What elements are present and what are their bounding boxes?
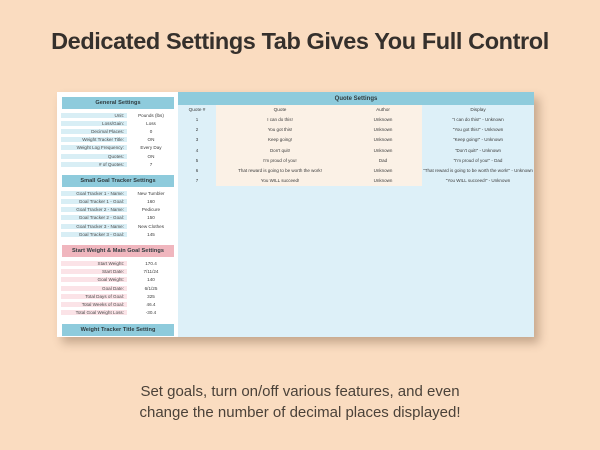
panel-title-general-settings: General Settings (61, 96, 175, 110)
setting-row[interactable]: Goal Tracker 2 - Goal: 150 (61, 214, 175, 222)
setting-row[interactable]: Goal Tracker 1 - Goal: 160 (61, 198, 175, 206)
table-row[interactable]: 6 That reward is going to be worth the w… (178, 165, 534, 175)
setting-value[interactable]: ON (127, 154, 175, 159)
setting-label: Goal Weight: (61, 277, 127, 282)
cell-author[interactable]: Unknown (344, 165, 422, 175)
table-row[interactable]: 3 Keep going! Unknown "Keep going!" - Un… (178, 135, 534, 145)
setting-value[interactable]: Pounds (lbs) (127, 113, 175, 118)
panel-body-start-weight-main-goal-settings: Start Weight: 170.4 Start Date: 7/11/24 … (61, 258, 175, 316)
caption-line-2: change the number of decimal places disp… (0, 402, 600, 423)
setting-value[interactable]: New Tumbler (127, 191, 175, 196)
setting-label: Goal Tracker 3 - Name: (61, 224, 127, 229)
table-row[interactable]: 7 You WILL succeed! Unknown "You WILL su… (178, 176, 534, 186)
setting-label: Weight Log Frequency: (61, 145, 127, 150)
setting-value[interactable]: 7 (127, 162, 175, 167)
setting-value[interactable]: 160 (127, 199, 175, 204)
cell-quote-number[interactable]: 3 (178, 135, 216, 145)
setting-value[interactable]: 150 (127, 215, 175, 220)
setting-value: 46.4 (127, 302, 175, 307)
slide-root: Dedicated Settings Tab Gives You Full Co… (0, 0, 600, 450)
cell-display: "Keep going!" - Unknown (422, 135, 534, 145)
cell-display: "That reward is going to be worth the wo… (422, 165, 534, 175)
setting-row[interactable]: Decimal Places: 0 (61, 127, 175, 135)
setting-label: # of Quotes: (61, 162, 127, 167)
setting-label: Goal Date: (61, 286, 127, 291)
setting-row[interactable]: Goal Tracker 1 - Name: New Tumbler (61, 189, 175, 197)
setting-row[interactable]: Total Days of Goal: 325 (61, 292, 175, 300)
panel-body-general-settings: Unit: Pounds (lbs) Loss/Gain: Loss Decim… (61, 110, 175, 168)
cell-author[interactable]: Unknown (344, 176, 422, 186)
setting-row[interactable]: Goal Tracker 3 - Name: New Clothes (61, 222, 175, 230)
panel-small-goal-tracker-settings: Small Goal Tracker Settings Goal Tracker… (61, 174, 175, 238)
setting-label: Goal Tracker 2 - Name: (61, 207, 127, 212)
setting-value[interactable]: 0 (127, 129, 175, 134)
cell-quote-text[interactable]: I can do this! (216, 114, 344, 124)
cell-quote-text[interactable]: You got this! (216, 125, 344, 135)
cell-quote-text[interactable]: Don't quit! (216, 145, 344, 155)
setting-value[interactable]: 145 (127, 232, 175, 237)
setting-label: Goal Tracker 1 - Name: (61, 191, 127, 196)
cell-quote-text[interactable]: You WILL succeed! (216, 176, 344, 186)
setting-label: Goal Tracker 1 - Goal: (61, 199, 127, 204)
setting-row[interactable]: Goal Tracker 2 - Name: Pedicure (61, 206, 175, 214)
cell-quote-number[interactable]: 1 (178, 114, 216, 124)
setting-label: Decimal Places: (61, 129, 127, 134)
setting-label: Total Weeks of Goal: (61, 302, 127, 307)
setting-row[interactable]: Weight Log Frequency: Every Day (61, 144, 175, 152)
setting-row[interactable]: Goal Date: 6/1/25 (61, 284, 175, 292)
table-row[interactable]: 5 I'm proud of you! Dad "I'm proud of yo… (178, 155, 534, 165)
panel-start-weight-main-goal-settings: Start Weight & Main Goal Settings Start … (61, 244, 175, 316)
cell-author[interactable]: Dad (344, 155, 422, 165)
panel-general-settings: General Settings Unit: Pounds (lbs) Loss… (61, 96, 175, 168)
caption-line-1: Set goals, turn on/off various features,… (0, 381, 600, 402)
slide-caption: Set goals, turn on/off various features,… (0, 381, 600, 423)
setting-label: Start Weight: (61, 261, 127, 266)
setting-row[interactable]: Total Goal Weight Loss: -30.4 (61, 309, 175, 317)
cell-author[interactable]: Unknown (344, 114, 422, 124)
setting-row[interactable]: Unit: Pounds (lbs) (61, 111, 175, 119)
setting-value[interactable]: ON (127, 137, 175, 142)
setting-row[interactable]: Weight Tracker Title: ON (61, 136, 175, 144)
setting-value: 325 (127, 294, 175, 299)
setting-row[interactable]: Goal Weight: 140 (61, 276, 175, 284)
setting-value[interactable]: 7/11/24 (127, 269, 175, 274)
cell-author[interactable]: Unknown (344, 125, 422, 135)
cell-quote-number[interactable]: 2 (178, 125, 216, 135)
setting-row[interactable]: Start Date: 7/11/24 (61, 268, 175, 276)
panel-title-quote-settings: Quote Settings (178, 92, 534, 105)
cell-quote-text[interactable]: I'm proud of you! (216, 155, 344, 165)
panel-title-start-weight-main-goal-settings: Start Weight & Main Goal Settings (61, 244, 175, 258)
setting-label: Loss/Gain: (61, 121, 127, 126)
spreadsheet-window: General Settings Unit: Pounds (lbs) Loss… (57, 92, 534, 337)
setting-label: Goal Tracker 3 - Goal: (61, 232, 127, 237)
column-header-quote-number[interactable]: Quote # (178, 105, 216, 114)
setting-value[interactable]: 170.4 (127, 261, 175, 266)
cell-author[interactable]: Unknown (344, 145, 422, 155)
cell-display: "I'm proud of you!" - Dad (422, 155, 534, 165)
setting-value[interactable]: Pedicure (127, 207, 175, 212)
setting-row[interactable]: Quotes: ON (61, 152, 175, 160)
cell-quote-number[interactable]: 4 (178, 145, 216, 155)
setting-row[interactable]: # of Quotes: 7 (61, 160, 175, 168)
column-header-author[interactable]: Author (344, 105, 422, 114)
panel-title-small-goal-tracker-settings: Small Goal Tracker Settings (61, 174, 175, 188)
table-row[interactable]: 4 Don't quit! Unknown "Don't quit!" - Un… (178, 145, 534, 155)
setting-row[interactable]: Loss/Gain: Loss (61, 119, 175, 127)
setting-row[interactable]: Start Weight: 170.4 (61, 259, 175, 267)
setting-label: Total Goal Weight Loss: (61, 310, 127, 315)
column-header-quote[interactable]: Quote (216, 105, 344, 114)
column-header-display[interactable]: Display (422, 105, 534, 114)
table-row[interactable]: 1 I can do this! Unknown "I can do this!… (178, 114, 534, 124)
setting-label: Weight Tracker Title: (61, 137, 127, 142)
setting-label: Start Date: (61, 269, 127, 274)
table-empty-area (178, 186, 534, 337)
setting-row[interactable]: Goal Tracker 3 - Goal: 145 (61, 230, 175, 238)
panel-title-weight-tracker-title-setting: Weight Tracker Title Setting (61, 323, 175, 337)
cell-quote-number[interactable]: 5 (178, 155, 216, 165)
panel-weight-tracker-title-setting: Weight Tracker Title Setting Weight Trac… (61, 323, 175, 337)
quote-settings-column: Quote Settings Quote # Quote Author Disp… (178, 92, 534, 337)
setting-value[interactable]: 6/1/25 (127, 286, 175, 291)
table-row[interactable]: 2 You got this! Unknown "You got this!" … (178, 125, 534, 135)
cell-quote-text[interactable]: Keep going! (216, 135, 344, 145)
quote-settings-table: Quote # Quote Author Display 1 I can do … (178, 105, 534, 186)
settings-column: General Settings Unit: Pounds (lbs) Loss… (57, 92, 178, 337)
panel-body-small-goal-tracker-settings: Goal Tracker 1 - Name: New Tumbler Goal … (61, 188, 175, 238)
cell-display: "You WILL succeed!" - Unknown (422, 176, 534, 186)
setting-value[interactable]: 140 (127, 277, 175, 282)
cell-quote-text[interactable]: That reward is going to be worth the wor… (216, 165, 344, 175)
cell-quote-number[interactable]: 7 (178, 176, 216, 186)
quote-table-body: 1 I can do this! Unknown "I can do this!… (178, 114, 534, 185)
cell-author[interactable]: Unknown (344, 135, 422, 145)
cell-quote-number[interactable]: 6 (178, 165, 216, 175)
setting-label: Goal Tracker 2 - Goal: (61, 215, 127, 220)
setting-value[interactable]: New Clothes (127, 224, 175, 229)
setting-label: Total Days of Goal: (61, 294, 127, 299)
setting-label: Quotes: (61, 154, 127, 159)
cell-display: "Don't quit!" - Unknown (422, 145, 534, 155)
setting-value[interactable]: Every Day (127, 145, 175, 150)
setting-value: -30.4 (127, 310, 175, 315)
setting-value[interactable]: Loss (127, 121, 175, 126)
cell-display: "I can do this!" - Unknown (422, 114, 534, 124)
setting-label: Unit: (61, 113, 127, 118)
page-title: Dedicated Settings Tab Gives You Full Co… (0, 28, 600, 55)
setting-row[interactable]: Total Weeks of Goal: 46.4 (61, 300, 175, 308)
cell-display: "You got this!" - Unknown (422, 125, 534, 135)
table-header-row: Quote # Quote Author Display (178, 105, 534, 114)
